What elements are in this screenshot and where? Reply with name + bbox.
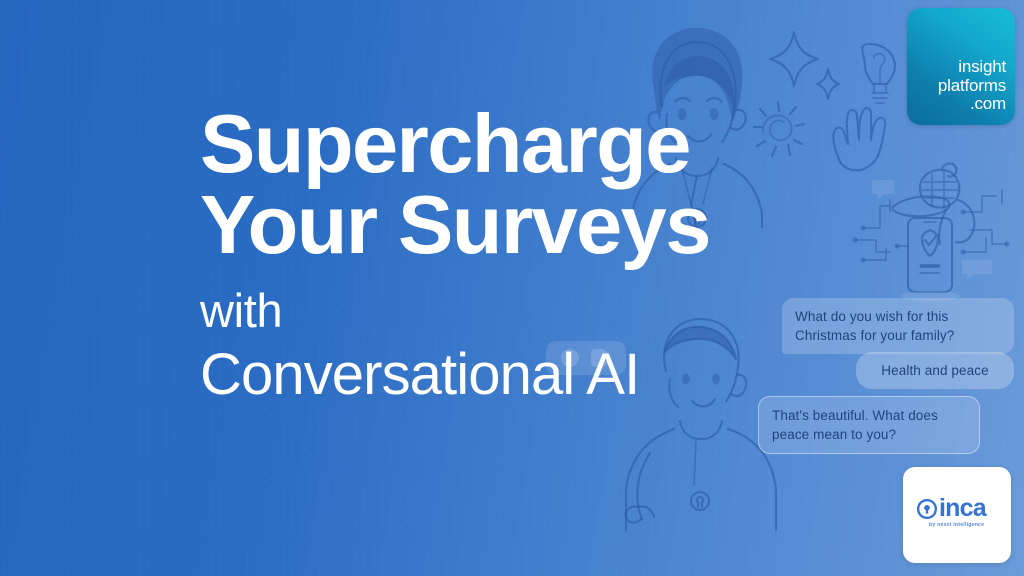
headline-line-1: Supercharge bbox=[200, 97, 690, 190]
insight-platforms-line-1: insight bbox=[938, 58, 1006, 77]
subtitle-prefix: with bbox=[200, 287, 900, 334]
insight-platforms-line-3: .com bbox=[938, 95, 1006, 114]
inca-a-glyph-icon bbox=[917, 499, 937, 519]
inca-logo-mark-group: inca bbox=[917, 496, 986, 521]
sparkle-icon bbox=[770, 32, 818, 86]
inca-logo-card[interactable]: inca by nexxt intelligence bbox=[903, 467, 1011, 563]
headline-line-2: Your Surveys bbox=[200, 185, 900, 266]
small-sparkle-icon bbox=[817, 69, 839, 99]
slide-canvas: What do you wish for this Christmas for … bbox=[0, 0, 1024, 576]
page-title: Supercharge Your Surveys bbox=[200, 104, 900, 265]
lightbulb-icon bbox=[862, 44, 895, 103]
inca-wordmark: inca bbox=[939, 496, 986, 521]
insight-platforms-logo-text: insight platforms .com bbox=[938, 58, 1006, 114]
inca-tagline: by nexxt intelligence bbox=[929, 522, 984, 528]
insight-platforms-line-2: platforms bbox=[938, 77, 1006, 96]
insight-platforms-logo[interactable]: insight platforms .com bbox=[907, 8, 1015, 125]
headline-block: Supercharge Your Surveys with Conversati… bbox=[200, 104, 900, 405]
subtitle-main: Conversational AI bbox=[200, 344, 900, 405]
